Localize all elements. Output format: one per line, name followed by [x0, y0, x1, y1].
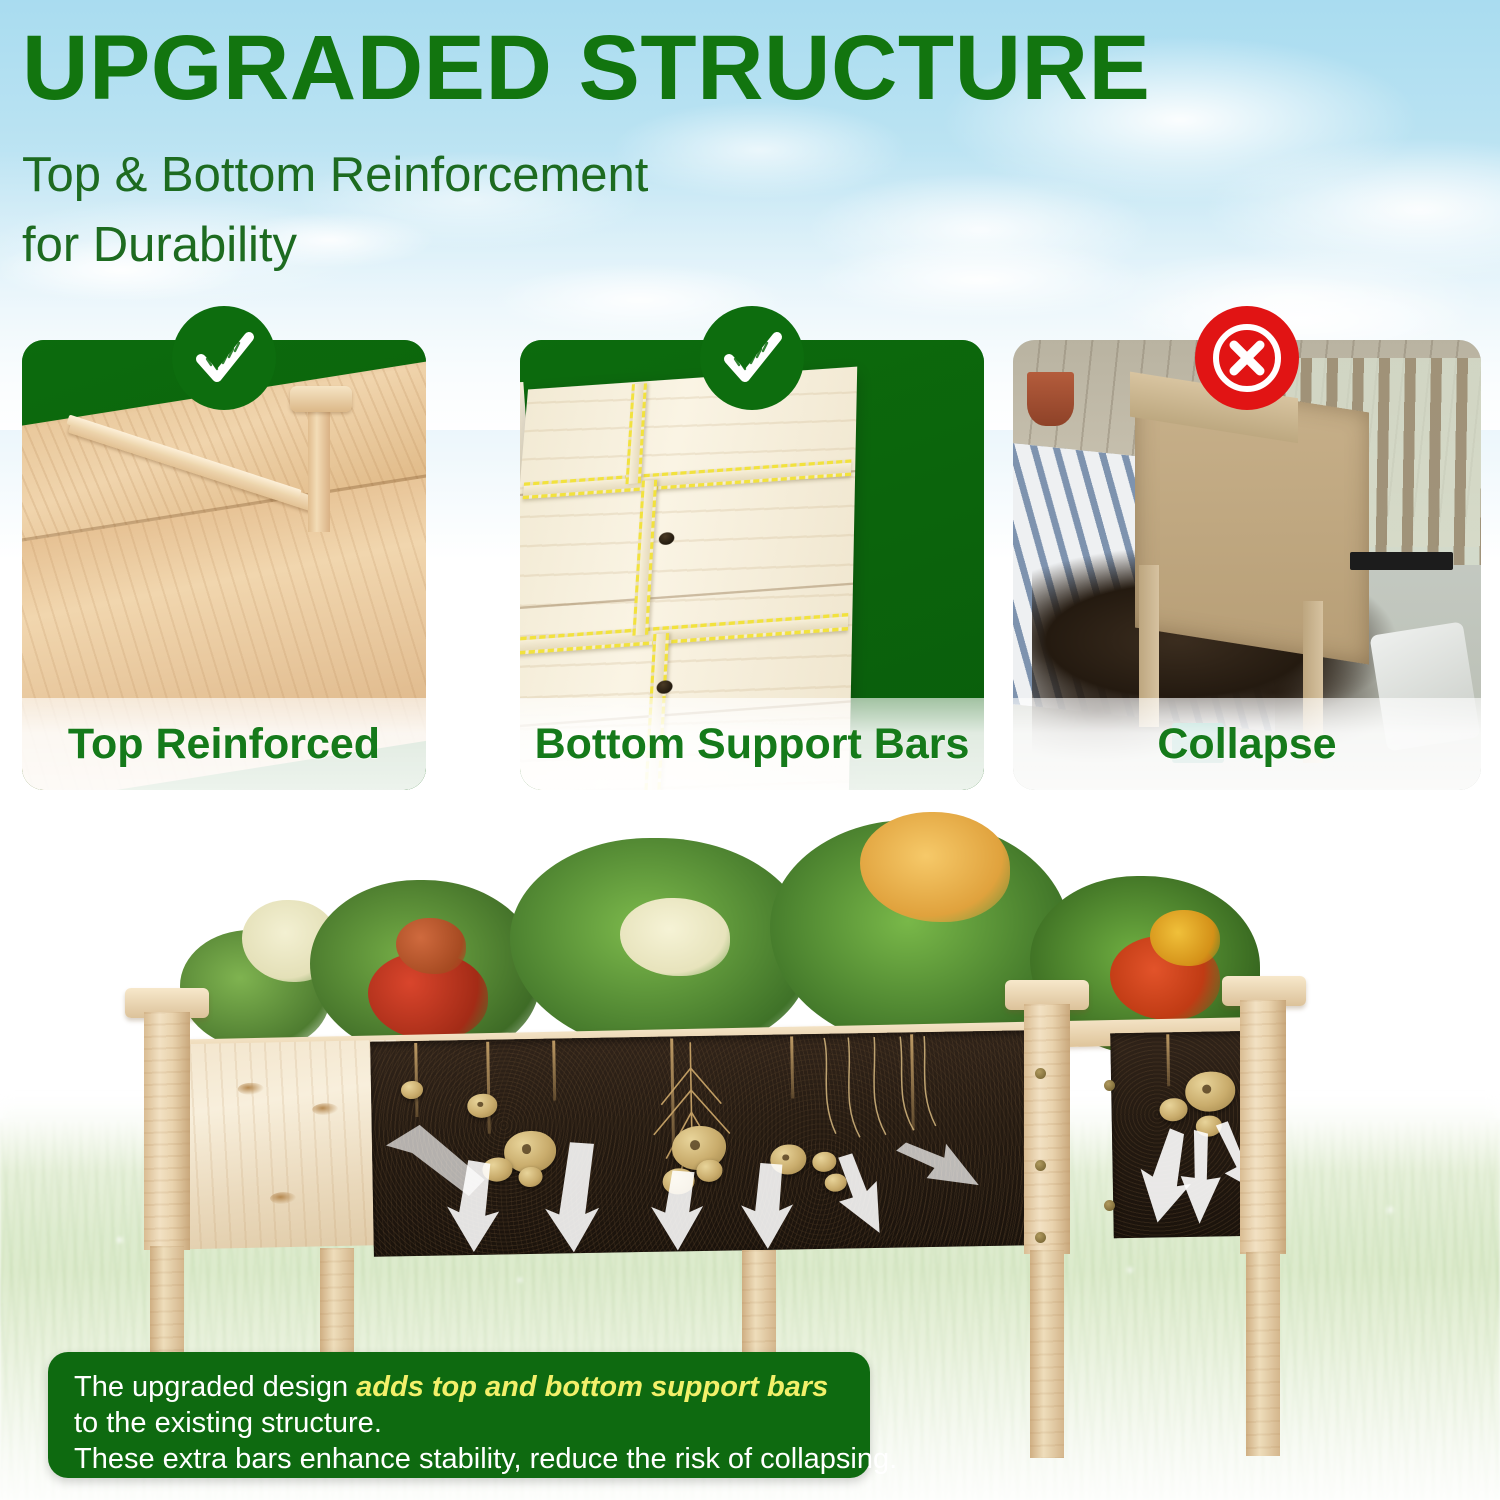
caption-line-3: These extra bars enhance stability, redu…: [74, 1441, 844, 1477]
comparison-card-top-reinforced[interactable]: Top Reinforced: [22, 340, 426, 790]
drainage-hole: [658, 532, 674, 546]
caption-line-2: to the existing structure.: [74, 1405, 844, 1441]
screw: [1104, 1200, 1115, 1211]
subtitle-line-2: for Durability: [22, 210, 802, 280]
soil-cross-section: [370, 1030, 1034, 1256]
caption-box: The upgraded design adds top and bottom …: [48, 1352, 870, 1478]
comparison-cards: Top Reinforced: [0, 300, 1500, 810]
card-label: Bottom Support Bars: [520, 698, 984, 790]
planter-leg: [1030, 1250, 1064, 1458]
infographic-canvas: UPGRADED STRUCTURE Top & Bottom Reinforc…: [0, 0, 1500, 1500]
bottom-support-bar-vertical: [625, 383, 646, 484]
wood-knot: [312, 1103, 338, 1116]
page-subtitle: Top & Bottom Reinforcement for Durabilit…: [22, 140, 802, 280]
card-label: Top Reinforced: [22, 698, 426, 790]
chili-pepper-cluster: [1150, 910, 1220, 966]
tool-hook-rail: [1350, 552, 1453, 570]
screw: [1104, 1080, 1115, 1091]
page-title: UPGRADED STRUCTURE: [22, 22, 1482, 114]
flower-pot: [1027, 372, 1074, 426]
comparison-card-collapse[interactable]: Collapse: [1013, 340, 1481, 790]
subtitle-line-1: Top & Bottom Reinforcement: [22, 140, 802, 210]
corner-post: [1240, 1000, 1286, 1254]
comparison-card-bottom-support-bars[interactable]: Bottom Support Bars: [520, 340, 984, 790]
cross-icon: [1195, 306, 1299, 410]
caption-line-1-text: The upgraded design: [74, 1371, 356, 1403]
bottom-support-bar-vertical: [632, 480, 657, 636]
wood-knot: [238, 1083, 264, 1096]
check-icon: [700, 306, 804, 410]
corner-post: [308, 402, 330, 532]
corner-post: [1024, 1004, 1070, 1254]
bottom-support-bar-horizontal: [523, 459, 852, 499]
caption-line-1: The upgraded design adds top and bottom …: [74, 1369, 844, 1405]
plank-seam: [520, 583, 853, 610]
caption-emphasis: adds top and bottom support bars: [356, 1371, 828, 1403]
corner-post: [144, 1012, 190, 1250]
tomato-fruit-cluster: [396, 918, 466, 974]
card-label: Collapse: [1013, 698, 1481, 790]
screw: [1035, 1160, 1046, 1171]
screw: [1035, 1232, 1046, 1243]
drainage-hole: [656, 680, 673, 694]
wood-knot: [270, 1192, 296, 1205]
growth-direction-arrows: [370, 1030, 1034, 1256]
corner-post-cap: [290, 386, 352, 412]
check-icon: [172, 306, 276, 410]
screw: [1035, 1068, 1046, 1079]
bottom-support-bar-horizontal: [520, 613, 848, 655]
planter-leg: [1246, 1252, 1280, 1456]
planter-left-wood-panel: [181, 1040, 400, 1249]
